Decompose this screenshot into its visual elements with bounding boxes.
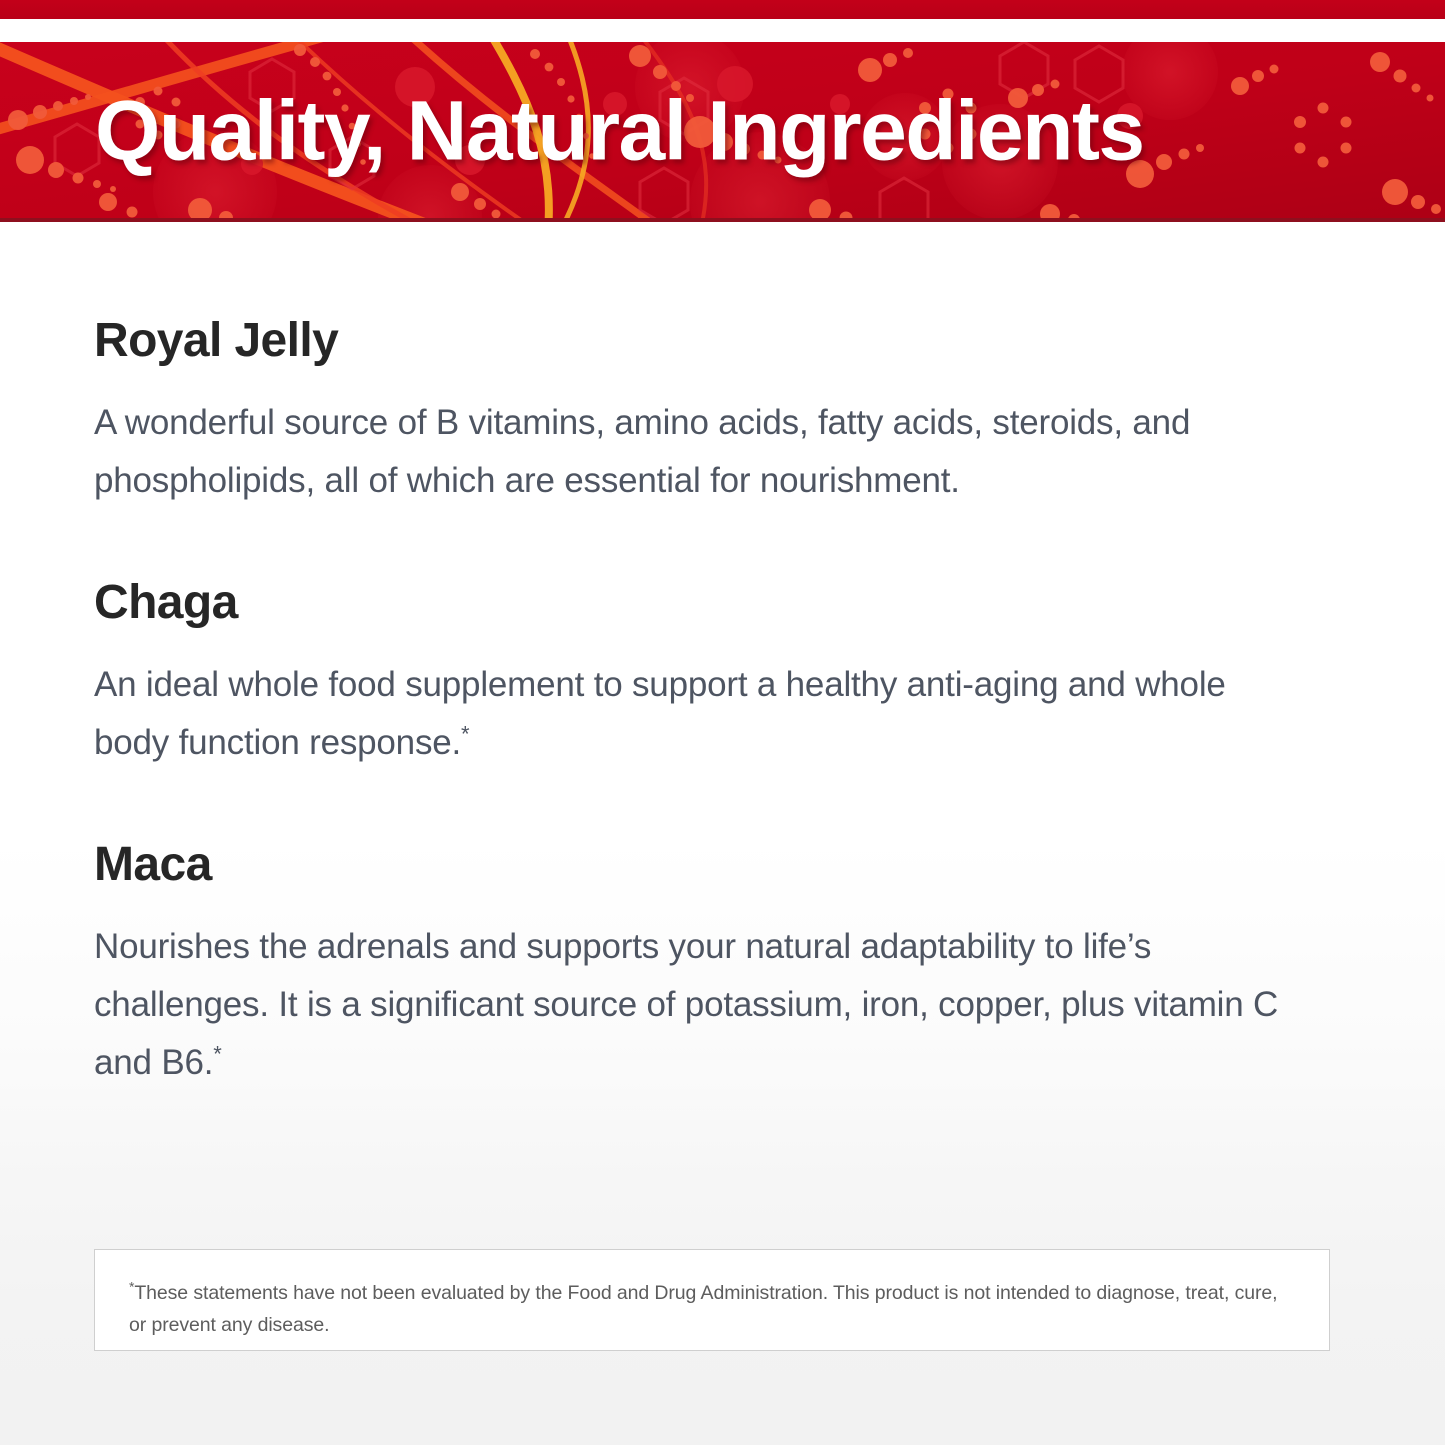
ingredient-description-royal-jelly: A wonderful source of B vitamins, amino … — [94, 394, 1294, 510]
ingredients-list: Royal Jelly A wonderful source of B vita… — [94, 316, 1344, 1091]
ingredient-name-chaga: Chaga — [94, 578, 1344, 628]
fda-disclaimer-box: *These statements have not been evaluate… — [94, 1249, 1330, 1351]
ingredient-maca: Maca Nourishes the adrenals and supports… — [94, 840, 1344, 1092]
ingredient-name-maca: Maca — [94, 840, 1344, 890]
page-root: Quality, Natural Ingredients Royal Jelly… — [0, 0, 1445, 1445]
footnote-marker: * — [213, 1041, 221, 1066]
footnote-marker: * — [461, 721, 469, 746]
ingredient-description-chaga: An ideal whole food supplement to suppor… — [94, 656, 1294, 772]
ingredient-description-text: A wonderful source of B vitamins, amino … — [94, 403, 1190, 500]
ingredient-description-text: An ideal whole food supplement to suppor… — [94, 665, 1226, 762]
header-banner: Quality, Natural Ingredients — [0, 42, 1445, 222]
ingredient-description-text: Nourishes the adrenals and supports your… — [94, 927, 1278, 1082]
top-accent-strip — [0, 0, 1445, 19]
ingredient-description-maca: Nourishes the adrenals and supports your… — [94, 918, 1294, 1091]
fda-disclaimer-text: *These statements have not been evaluate… — [129, 1278, 1295, 1341]
disclaimer-body: These statements have not been evaluated… — [129, 1282, 1277, 1336]
page-title: Quality, Natural Ingredients — [95, 82, 1144, 179]
ingredient-chaga: Chaga An ideal whole food supplement to … — [94, 578, 1344, 772]
ingredient-royal-jelly: Royal Jelly A wonderful source of B vita… — [94, 316, 1344, 510]
ingredient-name-royal-jelly: Royal Jelly — [94, 316, 1344, 366]
